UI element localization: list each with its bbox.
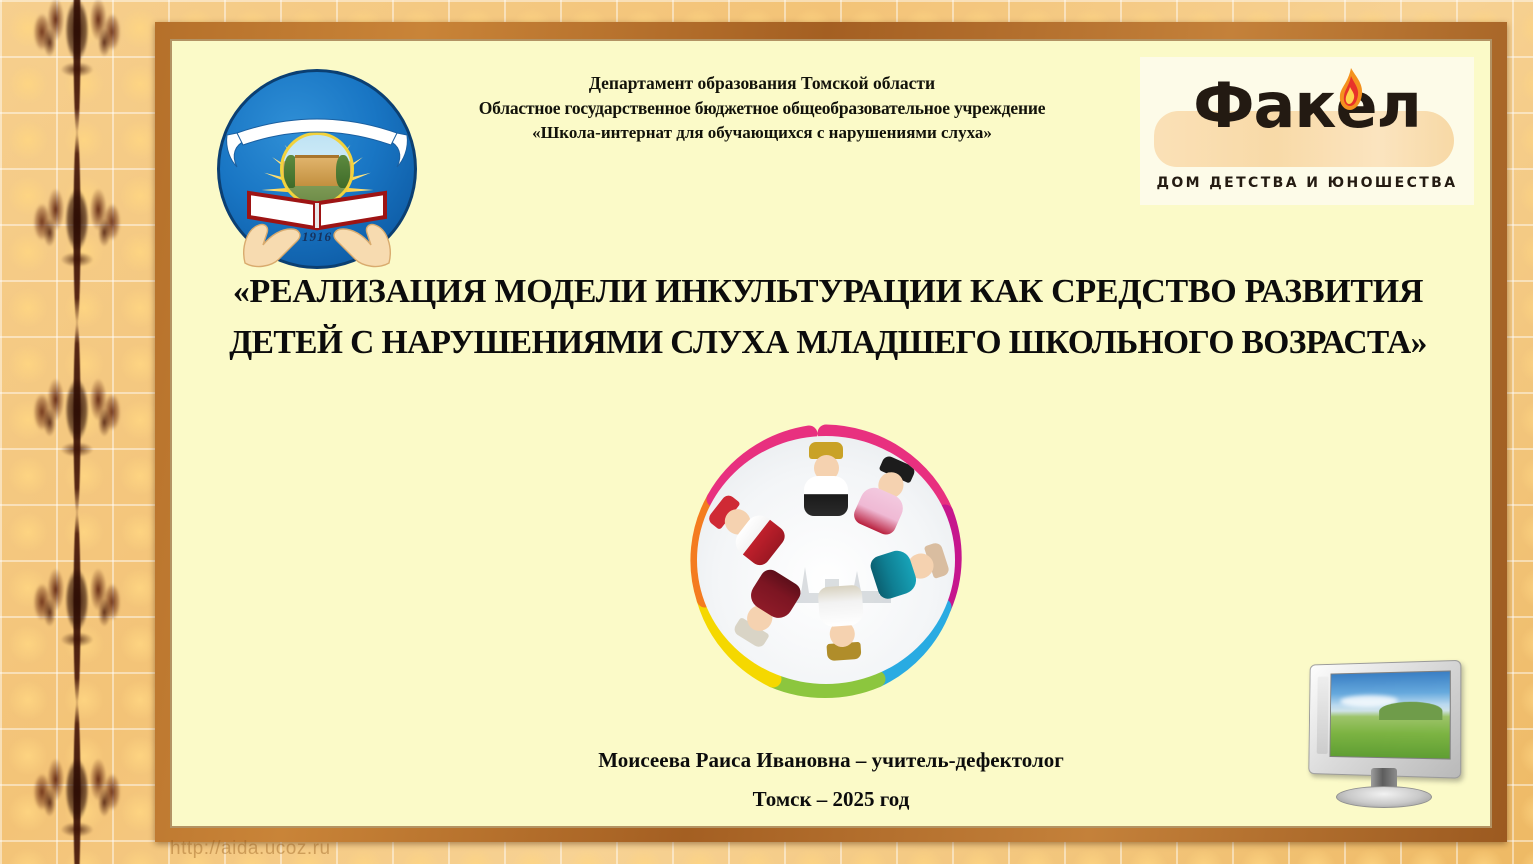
monitor-button-strip xyxy=(1317,676,1329,754)
emblem-founded-year: 1916 xyxy=(217,229,417,245)
slide-canvas: 1916 Департамент образования Томской обл… xyxy=(172,41,1490,826)
org-line-department: Департамент образования Томской области xyxy=(422,71,1102,96)
site-watermark: http://aida.ucoz.ru xyxy=(170,838,331,860)
child-figure xyxy=(799,442,853,516)
title-line-1: «РЕАЛИЗАЦИЯ МОДЕЛИ ИНКУЛЬТУРАЦИИ КАК СРЕ… xyxy=(196,266,1460,318)
org-line-institution: Областное государственное бюджетное обще… xyxy=(422,96,1102,121)
fakel-subtitle: ДОМ ДЕТСТВА И ЮНОШЕСТВА xyxy=(1140,175,1474,191)
org-line-school-name: «Школа-интернат для обучающихся с наруше… xyxy=(422,121,1102,145)
presentation-slide: 1916 Департамент образования Томской обл… xyxy=(0,0,1533,864)
monitor-case xyxy=(1308,660,1461,779)
author-name-and-role: Моисеева Раиса Ивановна – учитель-дефект… xyxy=(172,741,1490,780)
emblem-ribbon-banner xyxy=(221,115,413,173)
slide-header: 1916 Департамент образования Томской обл… xyxy=(172,41,1490,196)
slide-frame: 1916 Департамент образования Томской обл… xyxy=(155,22,1507,842)
flame-icon xyxy=(1336,67,1366,111)
school-emblem-icon: 1916 xyxy=(217,69,417,269)
fakel-partner-logo: Факел ДОМ ДЕТСТВА И ЮНОШЕСТВА xyxy=(1140,57,1474,205)
fakel-wordmark: Факел xyxy=(1140,75,1474,137)
title-line-2: ДЕТЕЙ С НАРУШЕНИЯМИ СЛУХА МЛАДШЕГО ШКОЛЬ… xyxy=(196,318,1460,369)
monitor-stand-base xyxy=(1336,786,1432,808)
computer-monitor-icon xyxy=(1300,660,1468,810)
organisation-heading: Департамент образования Томской области … xyxy=(422,71,1102,145)
left-ornament-border xyxy=(18,0,136,864)
child-figure xyxy=(866,532,953,606)
monitor-screen xyxy=(1329,670,1450,759)
place-and-year: Томск – 2025 год xyxy=(172,780,1490,819)
child-figure xyxy=(812,584,871,662)
author-footer: Моисеева Раиса Ивановна – учитель-дефект… xyxy=(172,741,1490,819)
children-circle-illustration xyxy=(681,421,971,699)
frame-inner-bevel: 1916 Департамент образования Томской обл… xyxy=(170,39,1492,828)
page-title: «РЕАЛИЗАЦИЯ МОДЕЛИ ИНКУЛЬТУРАЦИИ КАК СРЕ… xyxy=(196,266,1460,369)
children-photo-area xyxy=(697,436,955,684)
